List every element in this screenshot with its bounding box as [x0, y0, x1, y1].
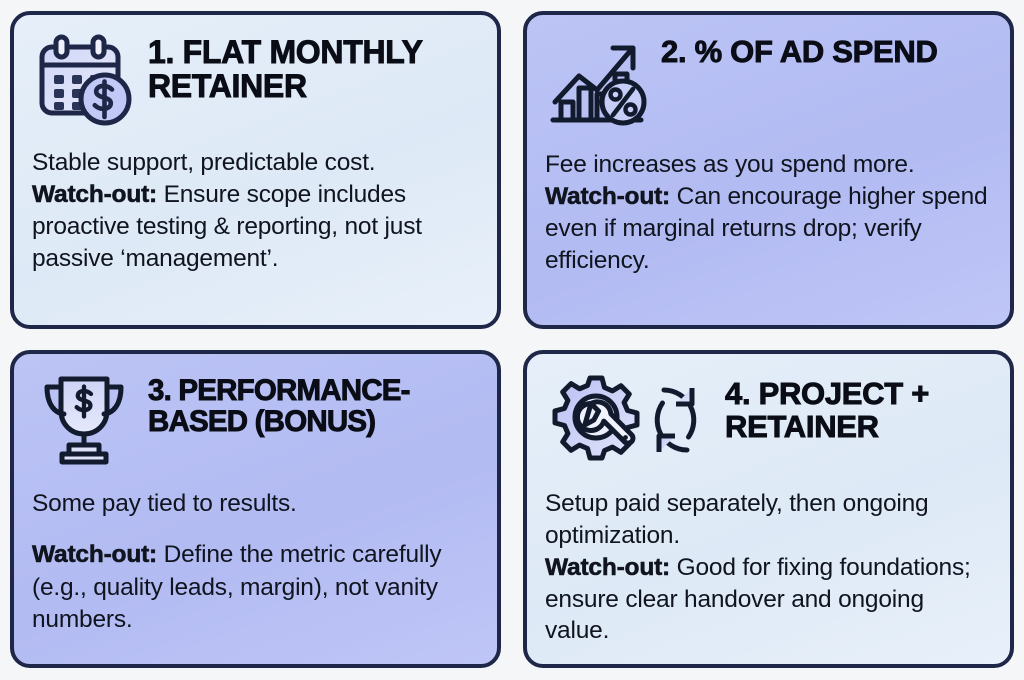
- growth-chart-percent-icon: [545, 31, 649, 131]
- card-header: 1. FLAT MONTHLY RETAINER: [32, 31, 479, 135]
- calendar-dollar-icon: [32, 31, 136, 131]
- card-body: Fee increases as you spend more. Watch-o…: [545, 135, 992, 276]
- card-lead: Fee increases as you spend more.: [545, 149, 992, 181]
- watch-out-label: Watch-out:: [32, 181, 157, 208]
- card-lead: Setup paid separately, then ongoing opti…: [545, 488, 992, 552]
- card-title: 1. FLAT MONTHLY RETAINER: [148, 31, 479, 104]
- card-percent-of-ad-spend: 2. % OF AD SPEND Fee increases as you sp…: [523, 11, 1014, 329]
- pricing-models-grid: 1. FLAT MONTHLY RETAINER Stable support,…: [0, 0, 1024, 680]
- gear-wrench-refresh-icon: [545, 370, 713, 470]
- card-header: 2. % OF AD SPEND: [545, 31, 992, 135]
- card-flat-monthly-retainer: 1. FLAT MONTHLY RETAINER Stable support,…: [10, 11, 501, 329]
- card-body: Some pay tied to results. Watch-out: Def…: [32, 470, 479, 637]
- card-title: 3. PERFORMANCE-BASED (BONUS): [148, 370, 479, 438]
- watch-out-label: Watch-out:: [545, 554, 670, 581]
- card-lead: Some pay tied to results.: [32, 488, 479, 521]
- watch-out-label: Watch-out:: [32, 541, 157, 568]
- card-header: 3. PERFORMANCE-BASED (BONUS): [32, 370, 479, 470]
- card-title: 4. PROJECT + RETAINER: [725, 370, 992, 444]
- watch-out-label: Watch-out:: [545, 183, 670, 210]
- card-project-plus-retainer: 4. PROJECT + RETAINER Setup paid separat…: [523, 350, 1014, 668]
- card-body: Setup paid separately, then ongoing opti…: [545, 474, 992, 647]
- card-title: 2. % OF AD SPEND: [661, 31, 938, 69]
- card-header: 4. PROJECT + RETAINER: [545, 370, 992, 474]
- card-body: Stable support, predictable cost. Watch-…: [32, 135, 479, 274]
- card-performance-based-bonus: 3. PERFORMANCE-BASED (BONUS) Some pay ti…: [10, 350, 501, 668]
- trophy-dollar-icon: [32, 370, 136, 470]
- paragraph-gap: [32, 521, 479, 539]
- card-lead: Stable support, predictable cost.: [32, 147, 479, 179]
